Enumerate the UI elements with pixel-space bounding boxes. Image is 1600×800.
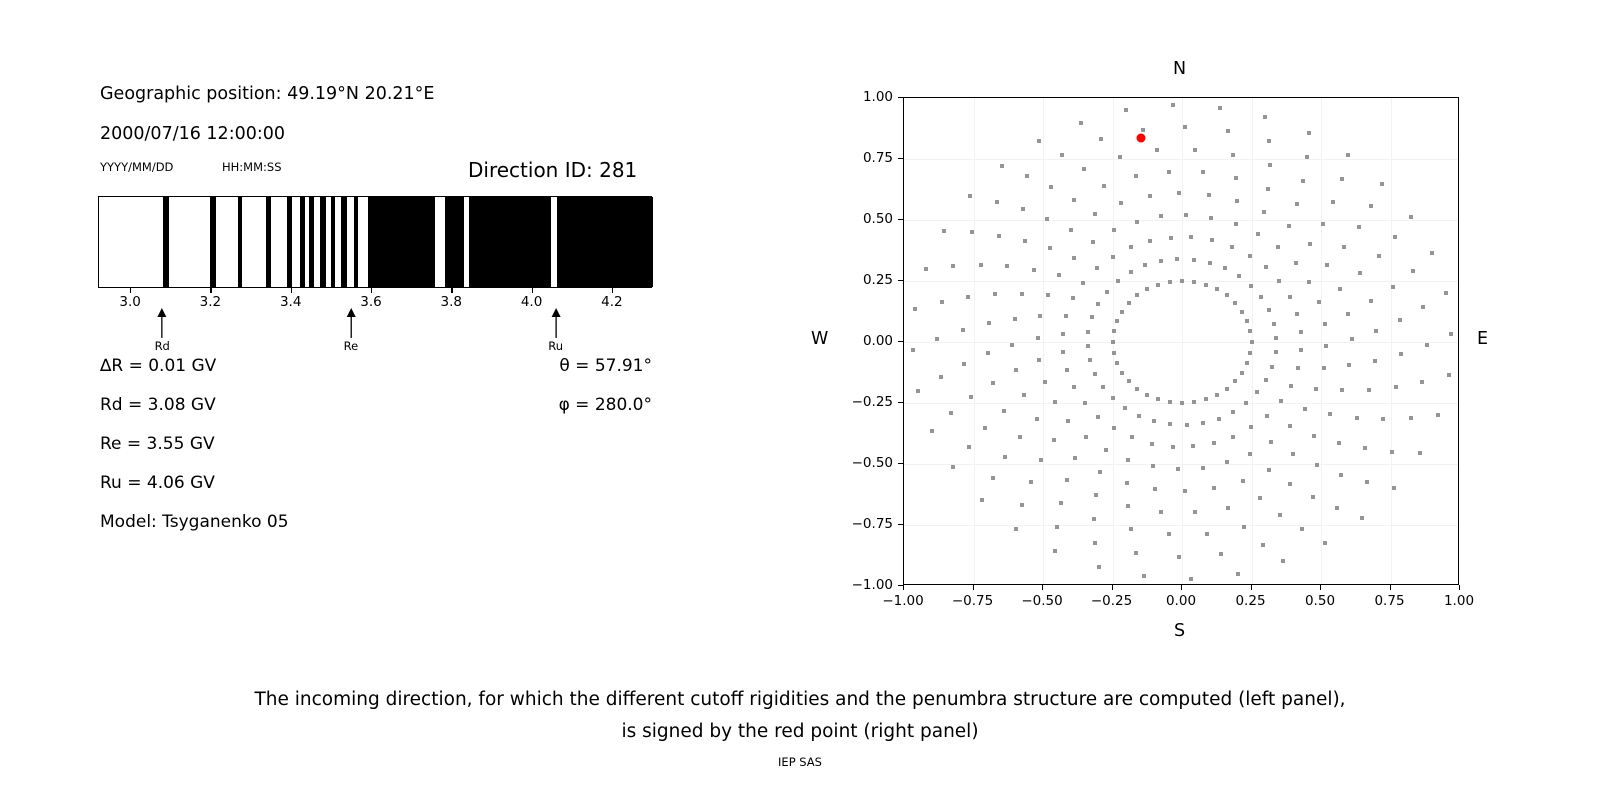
direction-point	[997, 234, 1001, 238]
direction-point	[1409, 416, 1413, 420]
direction-point	[1052, 438, 1056, 442]
direction-point	[1112, 351, 1116, 355]
direction-point	[1037, 358, 1041, 362]
direction-point	[1150, 442, 1154, 446]
y-axis-tick-label: 0.75	[841, 150, 893, 166]
direction-point	[1317, 300, 1321, 304]
direction-point	[1134, 551, 1138, 555]
caption-line-2: is signed by the red point (right panel)	[0, 716, 1600, 748]
direction-point	[1248, 351, 1252, 355]
rigidity-marker-ru: Ru	[548, 308, 563, 353]
rigidity-tick	[371, 288, 372, 293]
geographic-position: Geographic position: 49.19°N 20.21°E	[100, 84, 435, 104]
direction-point	[1135, 387, 1139, 391]
direction-point	[1308, 242, 1312, 246]
direction-point	[1148, 194, 1152, 198]
direction-point	[1175, 257, 1179, 261]
direction-point	[1201, 421, 1205, 425]
param-phi: φ = 280.0°	[452, 395, 652, 415]
direction-point	[1226, 129, 1230, 133]
direction-point	[1295, 312, 1299, 316]
penumbra-bar	[98, 196, 652, 288]
y-axis-tick-label: −0.25	[841, 394, 893, 410]
x-axis-tick	[1251, 585, 1252, 590]
compass-label-west: W	[811, 329, 828, 349]
direction-point	[1167, 170, 1171, 174]
direction-point	[1039, 458, 1043, 462]
direction-point	[1215, 287, 1219, 291]
direction-point	[1126, 458, 1130, 462]
direction-point	[1096, 415, 1100, 419]
direction-point	[1123, 406, 1127, 410]
penumbra-band	[287, 197, 292, 287]
direction-point	[1324, 344, 1328, 348]
penumbra-band	[368, 197, 435, 287]
direction-point	[1288, 424, 1292, 428]
penumbra-band	[557, 197, 653, 287]
direction-point	[1192, 258, 1196, 262]
direction-point	[1367, 388, 1371, 392]
direction-point	[1014, 527, 1018, 531]
penumbra-band	[331, 197, 336, 287]
up-arrow-icon	[550, 308, 561, 338]
direction-point	[1268, 163, 1272, 167]
rigidity-tick	[451, 288, 452, 293]
direction-point	[1281, 559, 1285, 563]
direction-point	[1340, 388, 1344, 392]
direction-point	[1180, 279, 1184, 283]
direction-point	[1084, 435, 1088, 439]
direction-point	[1071, 296, 1075, 300]
selected-direction-marker[interactable]	[1136, 133, 1145, 142]
direction-point	[1360, 516, 1364, 520]
gridline	[904, 464, 1458, 465]
direction-point	[1120, 371, 1124, 375]
direction-point	[1098, 470, 1102, 474]
y-axis-tick	[898, 402, 903, 403]
direction-point	[1204, 283, 1208, 287]
direction-point	[942, 229, 946, 233]
rigidity-tick	[612, 288, 613, 293]
direction-point	[1398, 318, 1402, 322]
direction-point	[1305, 155, 1309, 159]
y-axis-tick	[898, 463, 903, 464]
x-axis-tick-label: 1.00	[1444, 593, 1474, 609]
x-axis-tick	[1042, 585, 1043, 590]
direction-point	[1449, 332, 1453, 336]
direction-point	[1092, 517, 1096, 521]
direction-point	[1002, 409, 1006, 413]
penumbra-band	[210, 197, 216, 287]
direction-point	[1209, 216, 1213, 220]
direction-point	[1155, 148, 1159, 152]
direction-point	[1425, 343, 1429, 347]
direction-point	[1267, 139, 1271, 143]
direction-point	[1300, 527, 1304, 531]
direction-point	[1248, 329, 1252, 333]
direction-point	[1420, 380, 1424, 384]
direction-point	[1072, 385, 1076, 389]
direction-point	[1184, 213, 1188, 217]
gridline	[904, 220, 1458, 221]
x-axis-tick	[1390, 585, 1391, 590]
direction-point	[1189, 235, 1193, 239]
direction-point	[1192, 400, 1196, 404]
direction-point	[1153, 487, 1157, 491]
direction-point	[1295, 202, 1299, 206]
direction-point	[1289, 384, 1293, 388]
direction-point	[1236, 572, 1240, 576]
direction-point	[1043, 380, 1047, 384]
direction-point	[1014, 368, 1018, 372]
direction-point	[1447, 373, 1451, 377]
direction-point	[1093, 212, 1097, 216]
direction-point	[1176, 467, 1180, 471]
direction-point	[1231, 435, 1235, 439]
direction-point	[1207, 193, 1211, 197]
direction-point	[1167, 532, 1171, 536]
direction-point	[1124, 108, 1128, 112]
direction-point	[1127, 379, 1131, 383]
direction-point	[1057, 273, 1061, 277]
direction-point	[1059, 501, 1063, 505]
compass-label-south: S	[1174, 621, 1185, 641]
direction-point	[1037, 139, 1041, 143]
direction-point	[1020, 503, 1024, 507]
direction-point	[1185, 423, 1189, 427]
direction-point	[1081, 281, 1085, 285]
direction-point	[1111, 340, 1115, 344]
direction-point	[951, 264, 955, 268]
direction-point	[940, 300, 944, 304]
direction-point	[1249, 284, 1253, 288]
direction-point	[1079, 121, 1083, 125]
direction-point	[1193, 510, 1197, 514]
direction-point	[1277, 279, 1281, 283]
gridline	[904, 342, 1458, 343]
gridline	[974, 98, 975, 584]
direction-point	[1112, 228, 1116, 232]
direction-point	[1135, 220, 1139, 224]
footer-credit: IEP SAS	[0, 755, 1600, 769]
direction-point	[913, 307, 917, 311]
direction-point	[1082, 167, 1086, 171]
direction-point	[1278, 513, 1282, 517]
direction-point	[1152, 419, 1156, 423]
penumbra-band	[163, 197, 169, 287]
direction-point	[1013, 317, 1017, 321]
direction-point	[1307, 280, 1311, 284]
direction-point	[1205, 532, 1209, 536]
direction-point	[1177, 191, 1181, 195]
direction-point	[1241, 479, 1245, 483]
direction-point	[1256, 232, 1260, 236]
penumbra-band	[309, 197, 314, 287]
direction-point	[1180, 401, 1184, 405]
direction-point	[1088, 358, 1092, 362]
direction-point	[1125, 481, 1129, 485]
direction-point	[1350, 337, 1354, 341]
direction-point	[1212, 486, 1216, 490]
up-arrow-icon	[345, 308, 356, 338]
direction-point	[1156, 397, 1160, 401]
compass-label-east: E	[1477, 329, 1488, 349]
direction-point	[1183, 489, 1187, 493]
direction-point	[991, 381, 995, 385]
direction-point	[1120, 310, 1124, 314]
rigidity-tick	[210, 288, 211, 293]
direction-point	[1112, 329, 1116, 333]
y-axis-tick-label: 0.25	[841, 272, 893, 288]
direction-point	[1264, 265, 1268, 269]
direction-point	[1159, 259, 1163, 263]
direction-point	[1399, 352, 1403, 356]
direction-point	[1159, 214, 1163, 218]
direction-point	[1053, 400, 1057, 404]
direction-point	[1328, 412, 1332, 416]
direction-point	[1168, 400, 1172, 404]
direction-point	[1208, 261, 1212, 265]
direction-point	[1129, 270, 1133, 274]
direction-point	[969, 395, 973, 399]
direction-point	[1262, 210, 1266, 214]
direction-point	[1020, 292, 1024, 296]
direction-point	[968, 194, 972, 198]
direction-point	[1261, 543, 1265, 547]
direction-point	[1159, 510, 1163, 514]
direction-point	[1096, 302, 1100, 306]
direction-point	[1355, 416, 1359, 420]
direction-point	[1314, 387, 1318, 391]
direction-point	[1335, 506, 1339, 510]
direction-point	[1267, 308, 1271, 312]
direction-point	[1055, 525, 1059, 529]
figure-caption: The incoming direction, for which the di…	[0, 684, 1600, 748]
direction-point	[1118, 155, 1122, 159]
direction-point	[1168, 422, 1172, 426]
gridline	[1391, 98, 1392, 584]
y-axis-tick-label: 0.00	[841, 333, 893, 349]
direction-point	[1111, 255, 1115, 259]
direction-point	[1234, 222, 1238, 226]
direction-point	[1064, 314, 1068, 318]
direction-point	[1374, 329, 1378, 333]
direction-point	[1263, 115, 1267, 119]
direction-point	[1141, 128, 1145, 132]
direction-point	[1347, 363, 1351, 367]
direction-point	[1269, 440, 1273, 444]
date-format-hint: YYYY/MM/DD	[100, 160, 173, 174]
direction-point	[970, 230, 974, 234]
direction-point	[1393, 235, 1397, 239]
direction-point	[987, 321, 991, 325]
y-axis-tick	[898, 280, 903, 281]
direction-point	[1373, 359, 1377, 363]
direction-point	[1105, 290, 1109, 294]
x-axis-tick-label: 0.50	[1305, 593, 1335, 609]
direction-point	[1230, 245, 1234, 249]
x-axis-tick	[1181, 585, 1182, 590]
y-axis-tick-label: −1.00	[841, 577, 893, 593]
direction-point	[1248, 254, 1252, 258]
direction-point	[1225, 293, 1229, 297]
x-axis-tick-label: −0.50	[1021, 593, 1062, 609]
direction-point	[1018, 435, 1022, 439]
direction-point	[1274, 350, 1278, 354]
penumbra-band	[320, 197, 326, 287]
direction-point	[1183, 125, 1187, 129]
direction-point	[1250, 340, 1254, 344]
direction-point	[1377, 254, 1381, 258]
direction-point	[1116, 279, 1120, 283]
direction-point	[1244, 401, 1248, 405]
direction-point	[1073, 456, 1077, 460]
direction-point	[1189, 577, 1193, 581]
direction-point	[1137, 414, 1141, 418]
x-axis-tick	[903, 585, 904, 590]
direction-point	[1097, 565, 1101, 569]
direction-point	[1249, 425, 1253, 429]
direction-point	[1204, 397, 1208, 401]
y-axis-tick	[898, 219, 903, 220]
direction-point	[1365, 480, 1369, 484]
direction-point	[1225, 387, 1229, 391]
direction-id-label: Direction ID: 281	[468, 158, 637, 182]
direction-point	[930, 429, 934, 433]
direction-point	[1099, 137, 1103, 141]
penumbra-band	[354, 197, 359, 287]
direction-point	[1135, 293, 1139, 297]
direction-point	[1342, 245, 1346, 249]
gridline	[904, 159, 1458, 160]
param-delta-r: ∆R = 0.01 GV	[100, 356, 216, 376]
rigidity-tick-label: 4.2	[601, 294, 622, 310]
direction-point	[1127, 301, 1131, 305]
direction-point	[1210, 238, 1214, 242]
direction-point	[1115, 361, 1119, 365]
direction-point	[1288, 482, 1292, 486]
direction-point	[1270, 365, 1274, 369]
direction-point	[1201, 170, 1205, 174]
direction-point	[951, 465, 955, 469]
direction-point	[1258, 496, 1262, 500]
x-axis-tick-label: −0.25	[1091, 593, 1132, 609]
direction-point	[1046, 293, 1050, 297]
direction-point	[1104, 448, 1108, 452]
direction-point	[1291, 452, 1295, 456]
caption-line-1: The incoming direction, for which the di…	[0, 684, 1600, 716]
direction-point	[1299, 330, 1303, 334]
direction-point	[1003, 455, 1007, 459]
direction-point	[1145, 393, 1149, 397]
direction-point	[1111, 396, 1115, 400]
direction-point	[1035, 417, 1039, 421]
direction-point	[1411, 269, 1415, 273]
penumbra-band	[300, 197, 305, 287]
direction-point	[1219, 552, 1223, 556]
direction-point	[1255, 390, 1259, 394]
direction-point	[1049, 185, 1053, 189]
direction-point	[1338, 287, 1342, 291]
direction-point	[916, 389, 920, 393]
direction-point	[1177, 555, 1181, 559]
direction-point	[1156, 283, 1160, 287]
gridline	[1043, 98, 1044, 584]
direction-point	[1234, 176, 1238, 180]
direction-point	[1217, 417, 1221, 421]
direction-point	[1272, 322, 1276, 326]
rigidity-tick	[532, 288, 533, 293]
direction-point	[1060, 153, 1064, 157]
direction-scatter-plot	[903, 97, 1459, 585]
direction-point	[1223, 266, 1227, 270]
direction-point	[966, 295, 970, 299]
direction-point	[1029, 480, 1033, 484]
penumbra-band	[341, 197, 347, 287]
direction-point	[967, 445, 971, 449]
rigidity-tick-label: 4.0	[521, 294, 542, 310]
rigidity-tick-label: 3.0	[119, 294, 140, 310]
direction-point	[1231, 410, 1235, 414]
direction-point	[1369, 204, 1373, 208]
direction-point	[1231, 153, 1235, 157]
direction-point	[1233, 301, 1237, 305]
direction-point	[1296, 366, 1300, 370]
rigidity-marker-label: Re	[344, 339, 359, 353]
direction-point	[1436, 413, 1440, 417]
rigidity-marker-rd: Rd	[155, 308, 170, 353]
direction-point	[1331, 200, 1335, 204]
direction-point	[1380, 182, 1384, 186]
direction-point	[1235, 199, 1239, 203]
direction-point	[1315, 463, 1319, 467]
direction-point	[1048, 246, 1052, 250]
direction-point	[1168, 280, 1172, 284]
x-axis-tick	[973, 585, 974, 590]
direction-point	[1093, 541, 1097, 545]
direction-point	[1193, 148, 1197, 152]
y-axis-tick	[898, 97, 903, 98]
x-axis-tick-label: 0.25	[1235, 593, 1265, 609]
direction-point	[1086, 330, 1090, 334]
direction-point	[1215, 393, 1219, 397]
direction-point	[1212, 441, 1216, 445]
direction-point	[1418, 451, 1422, 455]
direction-point	[1358, 271, 1362, 275]
direction-point	[1053, 549, 1057, 553]
direction-point	[1023, 239, 1027, 243]
compass-label-north: N	[1173, 59, 1186, 79]
direction-point	[1093, 372, 1097, 376]
direction-point	[1145, 287, 1149, 291]
gridline	[904, 525, 1458, 526]
direction-point	[1267, 468, 1271, 472]
direction-point	[1266, 187, 1270, 191]
penumbra-band	[445, 197, 464, 287]
direction-point	[1357, 225, 1361, 229]
direction-point	[1143, 263, 1147, 267]
direction-point	[1151, 464, 1155, 468]
direction-point	[1126, 504, 1130, 508]
x-axis-tick-label: 0.75	[1374, 593, 1404, 609]
direction-point	[1065, 368, 1069, 372]
direction-point	[1325, 263, 1329, 267]
direction-point	[1061, 350, 1065, 354]
direction-point	[995, 200, 999, 204]
direction-point	[1346, 312, 1350, 316]
direction-point	[1322, 366, 1326, 370]
direction-point	[1323, 541, 1327, 545]
